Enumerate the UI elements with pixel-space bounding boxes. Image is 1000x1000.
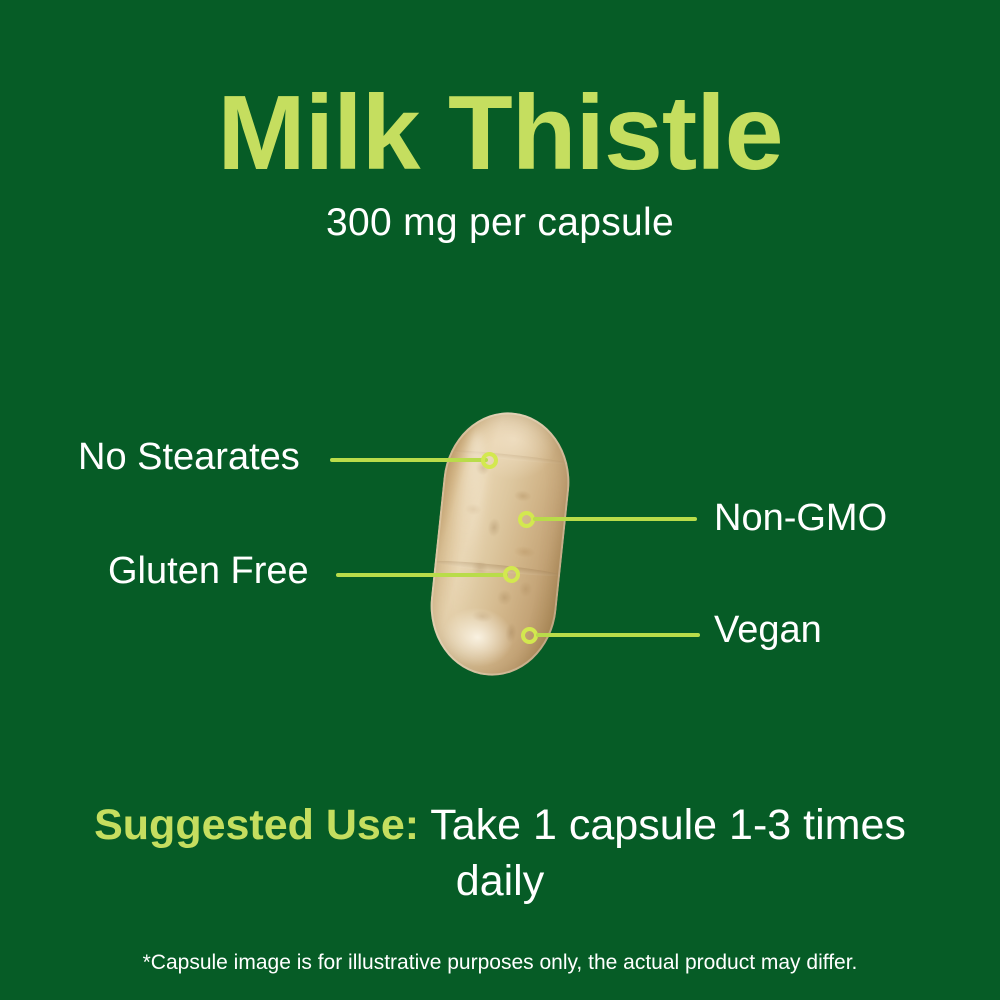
product-infographic: Milk Thistle 300 mg per capsule No Stear…	[0, 0, 1000, 1000]
capsule-rim	[424, 406, 577, 682]
callout-label-gluten-free: Gluten Free	[108, 552, 309, 590]
callout-label-vegan: Vegan	[714, 611, 822, 649]
suggested-use-instructions: Take 1 capsule 1-3 times daily	[430, 801, 906, 905]
callout-label-no-stearates: No Stearates	[78, 438, 300, 476]
disclaimer-footnote: *Capsule image is for illustrative purpo…	[0, 952, 1000, 973]
callout-label-non-gmo: Non-GMO	[714, 499, 887, 537]
capsule-illustration	[424, 406, 577, 682]
callout-leader-line-gluten-free	[336, 573, 508, 577]
callout-marker-no-stearates	[481, 452, 498, 469]
callout-marker-gluten-free	[503, 566, 520, 583]
page-title: Milk Thistle	[0, 80, 1000, 186]
product-dosage-subtitle: 300 mg per capsule	[0, 203, 1000, 242]
suggested-use-label: Suggested Use:	[94, 801, 419, 849]
callout-leader-line-vegan	[536, 633, 700, 637]
suggested-use-block: Suggested Use: Take 1 capsule 1-3 times …	[60, 798, 940, 910]
callout-leader-line-non-gmo	[533, 517, 697, 521]
callout-leader-line-no-stearates	[330, 458, 488, 462]
